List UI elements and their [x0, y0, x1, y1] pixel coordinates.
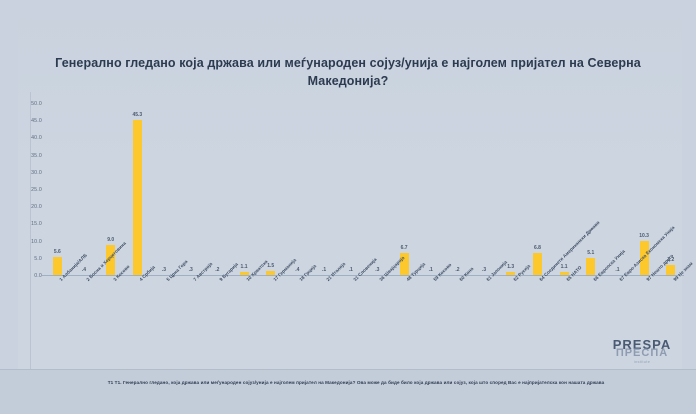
bar-value-label: .4 — [295, 267, 299, 273]
x-label-slot: 65 НАТО — [551, 278, 578, 374]
bar-column[interactable]: .1 — [311, 104, 338, 276]
bar-column[interactable]: 5.1 — [577, 104, 604, 276]
y-axis-tick: 40.0 — [31, 135, 42, 141]
bar-value-label: .1 — [349, 267, 353, 273]
left-margin — [0, 0, 18, 370]
footer-question: T1. Генерално гледано, која држава или м… — [115, 380, 605, 385]
bar-column[interactable]: .3 — [177, 104, 204, 276]
x-label-slot: 48 Турција — [391, 278, 418, 374]
footer-text: T1 T1. Генерално гледано, која држава ил… — [36, 379, 676, 388]
y-axis-tick: 10.0 — [31, 239, 42, 245]
bar-value-label: 6.7 — [401, 245, 408, 251]
bar[interactable] — [133, 120, 142, 276]
bar-value-label: 6.8 — [534, 245, 541, 251]
x-label-slot: 66 Европска Унија — [577, 278, 604, 374]
bar-column[interactable]: .3 — [471, 104, 498, 276]
x-label-slot: 7 Австрија — [177, 278, 204, 374]
y-axis: 0.05.010.015.020.025.030.035.040.045.050… — [22, 104, 44, 276]
x-label-slot: 21 Италија — [311, 278, 338, 374]
chart-title: Генерално гледано која држава или меѓуна… — [34, 54, 662, 90]
bar-value-label: 10.3 — [639, 233, 649, 239]
x-label-slot: 59 Косово — [417, 278, 444, 374]
bar-column[interactable]: .3 — [151, 104, 178, 276]
bar-column[interactable]: 3.2 — [657, 104, 684, 276]
y-axis-tick: 5.0 — [34, 256, 42, 262]
bar-value-label: 1.5 — [267, 263, 274, 269]
logo-cyrillic: ПРЕСПА — [606, 348, 678, 359]
logo-subtitle: institute — [606, 360, 678, 364]
x-label-slot: 60 Кина — [444, 278, 471, 374]
y-axis-tick: 35.0 — [31, 153, 42, 159]
bar-value-label: 5.6 — [54, 249, 61, 255]
bar-column[interactable]: 5.6 — [44, 104, 71, 276]
x-label-slot: 36 Швајцарија — [364, 278, 391, 374]
x-axis-labels: 1 Албанија/АЛБ2 Босна и Херцеговина3 Кос… — [44, 278, 684, 374]
prespa-logo: PRESPA ПРЕСПА institute — [606, 338, 678, 368]
bar-value-label: .3 — [482, 267, 486, 273]
y-axis-tick: 15.0 — [31, 221, 42, 227]
bar-value-label: .2 — [215, 267, 219, 273]
bar-value-label: 1.3 — [507, 264, 514, 270]
x-label-slot: 4 Србија — [124, 278, 151, 374]
footer-code: T1 — [108, 380, 114, 385]
bar-column[interactable]: 1.5 — [257, 104, 284, 276]
bar-value-label: .3 — [189, 267, 193, 273]
bar-value-label: .2 — [455, 267, 459, 273]
bar-series: 5.6.49.045.3.3.3.21.11.5.4.1.1.36.7.1.2.… — [44, 104, 684, 276]
bar-column[interactable]: .1 — [604, 104, 631, 276]
x-label-slot: 31 Словенија — [337, 278, 364, 374]
bar-column[interactable]: 1.3 — [497, 104, 524, 276]
bar-value-label: 45.3 — [132, 112, 142, 118]
bar-column[interactable]: .1 — [417, 104, 444, 276]
bar-column[interactable]: 45.3 — [124, 104, 151, 276]
bar-column[interactable]: .2 — [444, 104, 471, 276]
bar-column[interactable]: 6.8 — [524, 104, 551, 276]
y-axis-tick: 30.0 — [31, 170, 42, 176]
footer-bar: T1 T1. Генерално гледано, која држава ил… — [0, 369, 696, 414]
bar-value-label: 9.0 — [107, 237, 114, 243]
x-label-slot: 3 Косово — [97, 278, 124, 374]
bar-column[interactable]: .3 — [364, 104, 391, 276]
x-label-slot: 10 Хрватска — [231, 278, 258, 374]
bar-value-label: 1.1 — [561, 264, 568, 270]
y-axis-tick: 20.0 — [31, 204, 42, 210]
bar-value-label: .3 — [162, 267, 166, 273]
bar-column[interactable]: .4 — [284, 104, 311, 276]
chart-page: Генерално гледано која држава или меѓуна… — [0, 0, 696, 414]
bar-column[interactable]: 6.7 — [391, 104, 418, 276]
plot-area: 0.05.010.015.020.025.030.035.040.045.050… — [44, 104, 684, 276]
x-label-slot: 1 Албанија/АЛБ — [44, 278, 71, 374]
y-axis-tick: 25.0 — [31, 187, 42, 193]
bar[interactable] — [533, 253, 542, 276]
x-label-slot: 5 Црна Гора — [151, 278, 178, 374]
y-axis-tick: 45.0 — [31, 118, 42, 124]
x-label-slot: 64 Соединети Американски Држави — [524, 278, 551, 374]
x-label-slot: 2 Босна и Херцеговина — [71, 278, 98, 374]
bar-value-label: 5.1 — [587, 250, 594, 256]
bar[interactable] — [53, 257, 62, 276]
y-axis-tick: 50.0 — [31, 101, 42, 107]
x-label-slot: 9 Бугарија — [204, 278, 231, 374]
bar-value-label: .1 — [615, 267, 619, 273]
bar-value-label: .4 — [82, 267, 86, 273]
x-label-slot: 61 Јапонија — [471, 278, 498, 374]
x-label-slot: 18 Грција — [284, 278, 311, 374]
bar-value-label: .1 — [322, 267, 326, 273]
bar-value-label: .3 — [375, 267, 379, 273]
bar-column[interactable]: .2 — [204, 104, 231, 276]
x-label-slot: 17 Германија — [257, 278, 284, 374]
bar-column[interactable]: .4 — [71, 104, 98, 276]
x-label-slot: 62 Русија — [497, 278, 524, 374]
bar-value-label: .1 — [429, 267, 433, 273]
bar-column[interactable]: 1.1 — [231, 104, 258, 276]
bar-value-label: 1.1 — [241, 264, 248, 270]
bar-column[interactable]: .1 — [337, 104, 364, 276]
bar[interactable] — [586, 258, 595, 276]
y-axis-tick: 0.0 — [34, 273, 42, 279]
